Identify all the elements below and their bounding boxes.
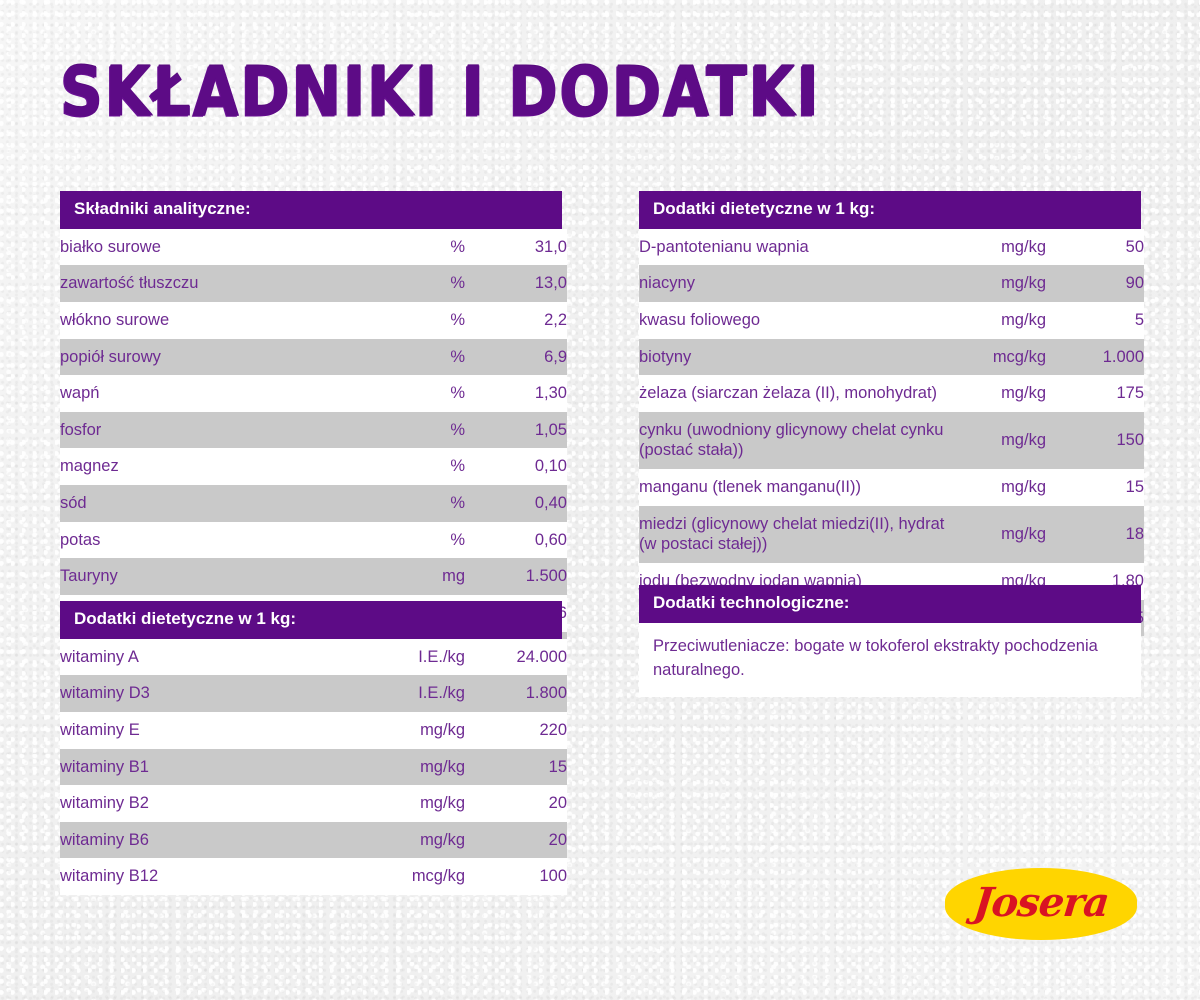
table-row: Taurynymg1.500 (60, 558, 567, 595)
technological-additives-header: Dodatki technologiczne: (639, 585, 1141, 623)
row-label: sód (60, 485, 390, 522)
table-row: witaminy Emg/kg220 (60, 712, 567, 749)
row-unit: mg/kg (390, 712, 465, 749)
row-unit: % (390, 485, 465, 522)
row-value: 50 (1046, 229, 1144, 266)
row-value: 24.000 (465, 639, 567, 676)
technological-additives-text: Przeciwutleniacze: bogate w tokoferol ek… (639, 623, 1141, 697)
analytical-constituents-block: Składniki analityczne: białko surowe%31,… (60, 191, 562, 668)
table-row: witaminy B12mcg/kg100 (60, 858, 567, 895)
table-row: biotynymcg/kg1.000 (639, 339, 1144, 376)
josera-logo-text: Josera (941, 868, 1141, 940)
row-unit: mg/kg (964, 412, 1046, 469)
row-label: witaminy D3 (60, 675, 390, 712)
table-row: żelaza (siarczan żelaza (II), monohydrat… (639, 375, 1144, 412)
row-unit: mg/kg (964, 229, 1046, 266)
row-unit: % (390, 522, 465, 559)
table-row: D-pantotenianu wapniamg/kg50 (639, 229, 1144, 266)
row-label: witaminy E (60, 712, 390, 749)
row-unit: mg/kg (390, 785, 465, 822)
row-unit: % (390, 265, 465, 302)
row-label: popiół surowy (60, 339, 390, 376)
row-value: 1,05 (465, 412, 567, 449)
dietetic-rows: D-pantotenianu wapniamg/kg50niacynymg/kg… (639, 229, 1144, 637)
row-value: 1.500 (465, 558, 567, 595)
row-unit: % (390, 448, 465, 485)
row-value: 0,10 (465, 448, 567, 485)
row-unit: % (390, 375, 465, 412)
ingredients-info-sheet: SKŁADNIKI I DODATKI Składniki analityczn… (0, 0, 1200, 1000)
table-row: witaminy AI.E./kg24.000 (60, 639, 567, 676)
table-row: wapń%1,30 (60, 375, 567, 412)
table-row: włókno surowe%2,2 (60, 302, 567, 339)
row-unit: I.E./kg (390, 675, 465, 712)
row-value: 13,0 (465, 265, 567, 302)
row-unit: mcg/kg (390, 858, 465, 895)
row-label: miedzi (glicynowy chelat miedzi(II), hyd… (639, 506, 964, 563)
row-unit: mcg/kg (964, 339, 1046, 376)
row-value: 150 (1046, 412, 1144, 469)
row-label: włókno surowe (60, 302, 390, 339)
row-value: 1.000 (1046, 339, 1144, 376)
table-row: fosfor%1,05 (60, 412, 567, 449)
technological-additives-block: Dodatki technologiczne: Przeciwutleniacz… (639, 585, 1141, 697)
vitamins-table: witaminy AI.E./kg24.000witaminy D3I.E./k… (60, 639, 567, 895)
row-label: kwasu foliowego (639, 302, 964, 339)
table-row: popiół surowy%6,9 (60, 339, 567, 376)
row-label: cynku (uwodniony glicynowy chelat cynku … (639, 412, 964, 469)
row-label: wapń (60, 375, 390, 412)
table-row: sód%0,40 (60, 485, 567, 522)
table-row: miedzi (glicynowy chelat miedzi(II), hyd… (639, 506, 1144, 563)
row-value: 1,30 (465, 375, 567, 412)
row-unit: % (390, 302, 465, 339)
row-label: magnez (60, 448, 390, 485)
row-label: D-pantotenianu wapnia (639, 229, 964, 266)
row-value: 5 (1046, 302, 1144, 339)
row-label: żelaza (siarczan żelaza (II), monohydrat… (639, 375, 964, 412)
row-value: 6,9 (465, 339, 567, 376)
row-unit: % (390, 339, 465, 376)
row-value: 20 (465, 785, 567, 822)
table-row: kwasu foliowegomg/kg5 (639, 302, 1144, 339)
table-row: manganu (tlenek manganu(II))mg/kg15 (639, 469, 1144, 506)
row-unit: mg/kg (964, 469, 1046, 506)
row-label: witaminy B12 (60, 858, 390, 895)
row-label: zawartość tłuszczu (60, 265, 390, 302)
table-row: zawartość tłuszczu%13,0 (60, 265, 567, 302)
page-title: SKŁADNIKI I DODATKI (60, 52, 821, 132)
vitamins-block: Dodatki dietetyczne w 1 kg: witaminy AI.… (60, 601, 562, 895)
row-unit: I.E./kg (390, 639, 465, 676)
row-value: 0,60 (465, 522, 567, 559)
row-value: 175 (1046, 375, 1144, 412)
row-value: 220 (465, 712, 567, 749)
dietetic-additives-header: Dodatki dietetyczne w 1 kg: (639, 191, 1141, 229)
row-unit: % (390, 412, 465, 449)
row-value: 100 (465, 858, 567, 895)
row-value: 15 (1046, 469, 1144, 506)
row-unit: mg/kg (964, 265, 1046, 302)
row-unit: mg (390, 558, 465, 595)
row-value: 20 (465, 822, 567, 859)
table-row: witaminy B2mg/kg20 (60, 785, 567, 822)
row-unit: mg/kg (964, 375, 1046, 412)
row-value: 0,40 (465, 485, 567, 522)
josera-logo: Josera (945, 868, 1137, 940)
row-unit: mg/kg (390, 822, 465, 859)
table-row: witaminy B1mg/kg15 (60, 749, 567, 786)
table-row: magnez%0,10 (60, 448, 567, 485)
table-row: potas%0,60 (60, 522, 567, 559)
dietetic-additives-block: Dodatki dietetyczne w 1 kg: D-pantotenia… (639, 191, 1141, 636)
row-label: fosfor (60, 412, 390, 449)
row-value: 2,2 (465, 302, 567, 339)
vitamins-rows: witaminy AI.E./kg24.000witaminy D3I.E./k… (60, 639, 567, 895)
table-row: witaminy B6mg/kg20 (60, 822, 567, 859)
row-label: białko surowe (60, 229, 390, 266)
analytical-constituents-header: Składniki analityczne: (60, 191, 562, 229)
dietetic-additives-table: D-pantotenianu wapniamg/kg50niacynymg/kg… (639, 229, 1144, 637)
row-label: Tauryny (60, 558, 390, 595)
row-value: 1.800 (465, 675, 567, 712)
row-value: 90 (1046, 265, 1144, 302)
vitamins-header: Dodatki dietetyczne w 1 kg: (60, 601, 562, 639)
row-label: niacyny (639, 265, 964, 302)
row-unit: mg/kg (964, 506, 1046, 563)
row-value: 18 (1046, 506, 1144, 563)
row-label: manganu (tlenek manganu(II)) (639, 469, 964, 506)
row-label: witaminy B2 (60, 785, 390, 822)
row-label: biotyny (639, 339, 964, 376)
table-row: witaminy D3I.E./kg1.800 (60, 675, 567, 712)
row-label: witaminy A (60, 639, 390, 676)
row-label: potas (60, 522, 390, 559)
row-value: 31,0 (465, 229, 567, 266)
row-unit: % (390, 229, 465, 266)
row-label: witaminy B6 (60, 822, 390, 859)
row-unit: mg/kg (964, 302, 1046, 339)
table-row: niacynymg/kg90 (639, 265, 1144, 302)
row-unit: mg/kg (390, 749, 465, 786)
table-row: cynku (uwodniony glicynowy chelat cynku … (639, 412, 1144, 469)
row-label: witaminy B1 (60, 749, 390, 786)
table-row: białko surowe%31,0 (60, 229, 567, 266)
row-value: 15 (465, 749, 567, 786)
